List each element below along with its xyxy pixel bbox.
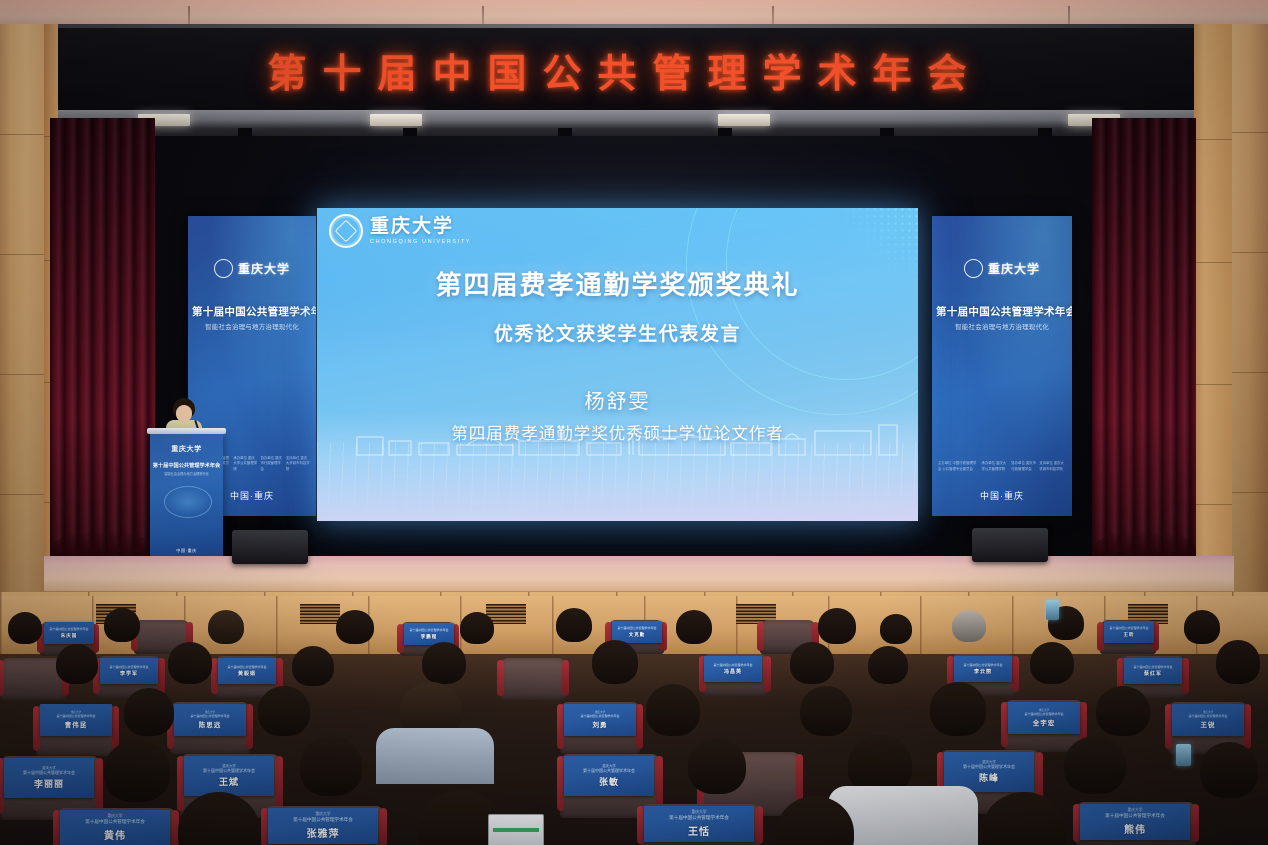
audience-head — [868, 646, 908, 684]
audience-head — [688, 738, 746, 794]
seat-name-card: 第十届中国公共管理学术年会 朱庆国 — [44, 622, 94, 644]
speaker-face — [176, 405, 192, 422]
placard-name: 刘勇 — [593, 719, 608, 729]
podium-location: 中国·重庆 — [150, 548, 223, 554]
seat-name-card: 重庆大学 第十届中国公共管理学术年会 王锐 — [1172, 704, 1244, 736]
placard-name: 陈峰 — [979, 771, 999, 784]
placard-name: 文克勤 — [629, 632, 646, 638]
placard-name: 蔡红军 — [1144, 670, 1162, 677]
podium-logo-text: 重庆大学 — [150, 444, 223, 454]
audience-shoulders — [376, 728, 494, 784]
placard-conference: 第十届中国公共管理学术年会 — [1188, 714, 1227, 718]
placard-conference: 第十届中国公共管理学术年会 — [617, 626, 656, 630]
audience-head — [8, 612, 42, 644]
placard-conference: 第十届中国公共管理学术年会 — [963, 764, 1015, 770]
side-banner-right-logo-text: 重庆大学 — [988, 260, 1040, 277]
side-banner-right-logo: 重庆大学 — [932, 256, 1072, 280]
audience-head — [336, 610, 374, 644]
audience-head — [292, 646, 334, 686]
placard-name: 李云丽 — [974, 668, 992, 675]
seat-name-card: 第十届中国公共管理学术年会 李云丽 — [954, 656, 1012, 682]
seat-name-card: 重庆大学 第十届中国公共管理学术年会 黄伟 — [60, 810, 170, 845]
side-banner-right: 重庆大学 第十届中国公共管理学术年会 智能社会治理与地方治理现代化 主办单位 中… — [932, 216, 1072, 516]
placard-conference: 第十届中国公共管理学术年会 — [713, 663, 752, 667]
side-banner-right-location: 中国·重庆 — [932, 489, 1072, 502]
podium-title: 第十届中国公共管理学术年会 — [152, 462, 221, 469]
seat-name-card: 重庆大学 第十届中国公共管理学术年会 张雅萍 — [268, 808, 378, 844]
smartphone-screen — [1046, 600, 1059, 620]
org-block: 协办单位 重庆市行政管理学会 — [260, 456, 282, 472]
open-laptop — [488, 814, 544, 845]
screen-logo-en: CHONGQING UNIVERSITY — [370, 239, 471, 245]
audience-head — [300, 736, 362, 796]
placard-conference: 第十届中国公共管理学术年会 — [23, 770, 75, 776]
placard-conference: 第十届中国公共管理学术年会 — [963, 663, 1002, 667]
placard-name: 王恬 — [688, 823, 710, 838]
placard-name: 黄毅娟 — [238, 670, 256, 677]
audience-head — [790, 642, 834, 684]
smartphone-screen — [1176, 744, 1191, 766]
seat-name-card: 重庆大学 第十届中国公共管理学术年会 李丽丽 — [4, 758, 94, 798]
audience-head — [1096, 686, 1150, 736]
placard-name: 李鹏程 — [421, 634, 438, 640]
audience-head — [1200, 742, 1258, 798]
placard-conference: 第十届中国公共管理学术年会 — [409, 628, 448, 632]
placard-conference: 第十届中国公共管理学术年会 — [227, 665, 266, 669]
placard-name: 王昕 — [1124, 632, 1135, 638]
audience-head — [556, 608, 592, 642]
org-block: 支持单位 重庆大学城市科技学院 — [1039, 461, 1066, 472]
podium-top-surface — [147, 428, 226, 434]
seat-name-card: 第十届中国公共管理学术年会 冯昌英 — [704, 656, 762, 682]
university-seal-icon — [964, 259, 983, 278]
placard-name: 黄伟 — [104, 827, 126, 842]
side-banner-left-title: 第十届中国公共管理学术年会 — [192, 304, 312, 319]
seat-name-card: 重庆大学 第十届中国公共管理学术年会 全宇宏 — [1008, 702, 1080, 734]
placard-conference: 第十届中国公共管理学术年会 — [583, 768, 635, 774]
audience-head — [952, 610, 986, 642]
slide-speaker-role: 第四届费孝通勤学奖优秀硕士学位论文作者 — [317, 420, 918, 444]
placard-conference: 第十届中国公共管理学术年会 — [190, 714, 229, 718]
seat-name-card: 重庆大学 第十届中国公共管理学术年会 张敏 — [564, 756, 654, 796]
audience-head — [168, 642, 212, 684]
placard-name: 王锐 — [1201, 719, 1216, 729]
placard-name: 全宇宏 — [1033, 717, 1056, 727]
placard-conference: 第十届中国公共管理学术年会 — [580, 714, 619, 718]
side-banner-right-title: 第十届中国公共管理学术年会 — [936, 304, 1068, 319]
org-block: 支持单位 重庆大学城市科技学院 — [286, 456, 310, 472]
main-presentation-screen: 重庆大学 CHONGQING UNIVERSITY 第四届费孝通勤学奖颁奖典礼 … — [317, 208, 918, 521]
audience-head — [104, 608, 140, 642]
university-seal-icon — [214, 259, 233, 278]
slide-title: 第四届费孝通勤学奖颁奖典礼 — [317, 265, 918, 302]
placard-conference: 第十届中国公共管理学术年会 — [1133, 665, 1172, 669]
audience-head — [676, 610, 712, 644]
placard-name: 熊伟 — [1124, 821, 1146, 836]
audience-head — [56, 644, 98, 684]
org-block: 协办单位 重庆市行政管理学会 — [1011, 461, 1036, 472]
audience-head — [258, 686, 310, 736]
audience-head — [930, 682, 986, 736]
audience-head — [646, 684, 700, 736]
seat-name-card: 重庆大学 第十届中国公共管理学术年会 陈思远 — [174, 704, 246, 736]
conference-led-banner-text: 第十届中国公共管理学术年会 — [190, 42, 1060, 100]
org-block: 主办单位 中国行政管理学会 公共管理专业委员会 — [938, 461, 978, 472]
side-banner-right-subtitle: 智能社会治理与地方治理现代化 — [936, 321, 1068, 331]
audience-head — [124, 688, 174, 736]
audience-head — [422, 642, 466, 684]
placard-name: 冯昌英 — [724, 668, 742, 675]
audience-head — [1064, 736, 1126, 794]
placard-conference: 第十届中国公共管理学术年会 — [1105, 813, 1165, 819]
placard-conference: 第十届中国公共管理学术年会 — [56, 714, 95, 718]
org-block: 承办单位 重庆大学公共管理学院 — [233, 456, 257, 472]
stage-floor — [44, 556, 1234, 594]
placard-conference: 第十届中国公共管理学术年会 — [49, 627, 88, 631]
seat — [500, 658, 566, 700]
placard-name: 曹伟昆 — [65, 719, 88, 729]
wall-vent — [300, 604, 340, 624]
placard-name: 王斌 — [219, 775, 239, 788]
placard-conference: 第十届中国公共管理学术年会 — [669, 815, 729, 821]
placard-conference: 第十届中国公共管理学术年会 — [1024, 712, 1063, 716]
side-banner-left-logo: 重庆大学 — [188, 256, 316, 280]
placard-name: 张雅萍 — [307, 825, 340, 840]
seat-name-card: 第十届中国公共管理学术年会 黄毅娟 — [218, 658, 276, 684]
left-curtain — [50, 118, 155, 558]
audience-head — [460, 612, 494, 644]
placard-name: 李丽丽 — [34, 777, 64, 790]
screen-university-logo: 重庆大学 CHONGQING UNIVERSITY — [329, 214, 471, 248]
placard-name: 陈思远 — [199, 719, 222, 729]
podium-globe-graphic — [164, 486, 212, 518]
placard-conference: 第十届中国公共管理学术年会 — [1109, 626, 1148, 630]
placard-conference: 第十届中国公共管理学术年会 — [203, 768, 255, 774]
audience-head — [1216, 640, 1260, 684]
podium-subtitle: 智能社会治理与地方治理现代化 — [152, 471, 221, 476]
seat-name-card: 重庆大学 第十届中国公共管理学术年会 熊伟 — [1080, 804, 1190, 840]
podium: 重庆大学 第十届中国公共管理学术年会 智能社会治理与地方治理现代化 中国·重庆 — [150, 432, 223, 560]
audience-head — [104, 740, 170, 802]
placard-name: 李学军 — [120, 670, 138, 677]
audience-head — [592, 640, 638, 684]
slide-subtitle: 优秀论文获奖学生代表发言 — [317, 319, 918, 346]
audience-head — [1184, 610, 1220, 644]
audience-area: 第十届中国公共管理学术年会 朱庆国 第十届中国公共管理学术年会 李鹏程 第十届中… — [0, 596, 1268, 845]
placard-name: 朱庆国 — [61, 633, 78, 639]
placard-conference: 第十届中国公共管理学术年会 — [85, 819, 145, 825]
seat-name-card: 第十届中国公共管理学术年会 蔡红军 — [1124, 658, 1182, 684]
placard-conference: 第十届中国公共管理学术年会 — [109, 665, 148, 669]
stage-monitor-speaker-right — [972, 528, 1048, 562]
side-banner-left-logo-text: 重庆大学 — [238, 260, 290, 277]
slide-speaker-name: 杨舒雯 — [317, 385, 918, 414]
screen-logo-cn: 重庆大学 — [370, 217, 471, 236]
seat-name-card: 重庆大学 第十届中国公共管理学术年会 王恬 — [644, 806, 754, 842]
university-seal-icon — [329, 214, 363, 248]
seat-name-card: 重庆大学 第十届中国公共管理学术年会 曹伟昆 — [40, 704, 112, 736]
seat-name-card: 重庆大学 第十届中国公共管理学术年会 刘勇 — [564, 704, 636, 736]
audience-head — [880, 614, 912, 644]
audience-head — [208, 610, 244, 644]
side-banner-left-subtitle: 智能社会治理与地方治理现代化 — [192, 321, 312, 331]
seat-name-card: 第十届中国公共管理学术年会 李学军 — [100, 658, 158, 684]
side-banner-right-orgs: 主办单位 中国行政管理学会 公共管理专业委员会 承办单位 重庆大学公共管理学院 … — [938, 461, 1066, 472]
seat-name-card: 重庆大学 第十届中国公共管理学术年会 王斌 — [184, 756, 274, 796]
audience-head — [1030, 642, 1074, 684]
org-block: 承办单位 重庆大学公共管理学院 — [981, 461, 1008, 472]
placard-name: 张敏 — [599, 775, 619, 788]
auditorium-scene: 第十届中国公共管理学术年会 重庆大学 第十届中国公共管理学术年会 智能社会治理与… — [0, 0, 1268, 845]
audience-head — [818, 608, 856, 644]
seat-name-card: 第十届中国公共管理学术年会 王昕 — [1104, 621, 1154, 643]
right-curtain — [1092, 118, 1196, 558]
placard-conference: 第十届中国公共管理学术年会 — [293, 817, 353, 823]
audience-head — [800, 686, 852, 736]
stage-monitor-speaker-left — [232, 530, 308, 564]
